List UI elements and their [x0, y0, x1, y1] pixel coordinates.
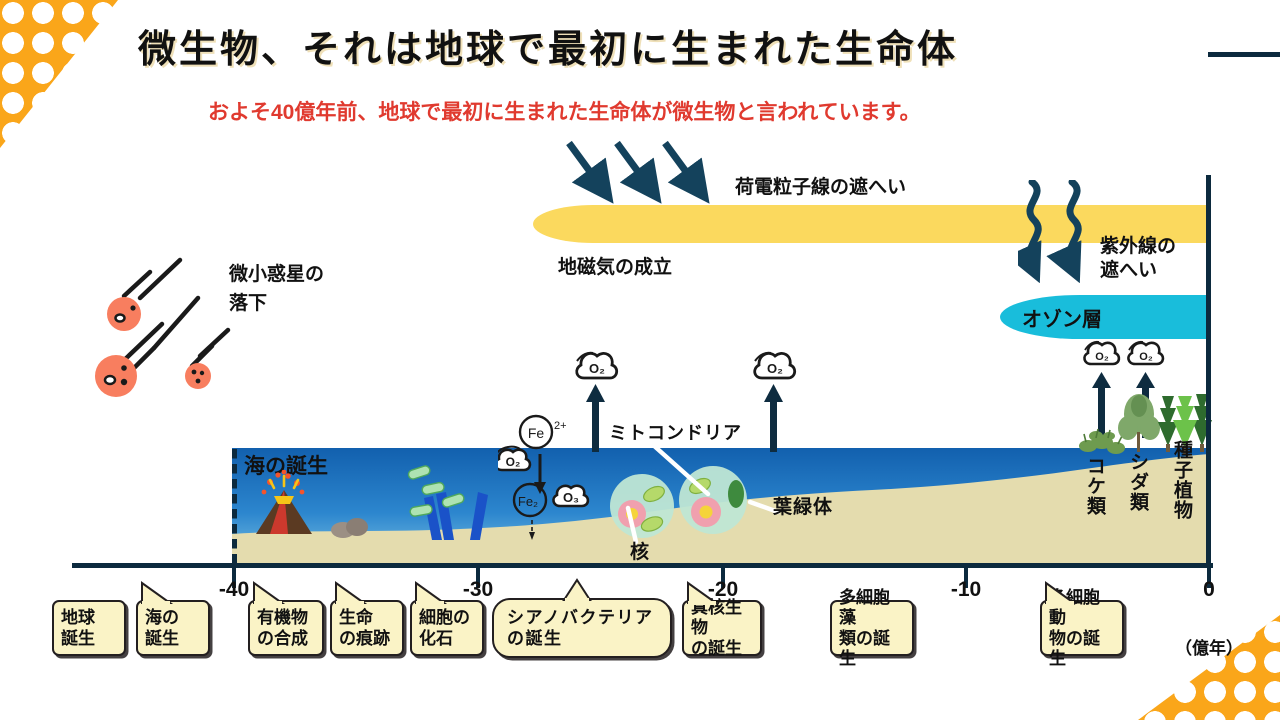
plant-label-fern: シダ類 — [1128, 452, 1147, 512]
callout-label-earth-birth: 地球 誕生 — [52, 600, 126, 656]
svg-text:O₂: O₂ — [1139, 351, 1153, 363]
callout-earth-birth[interactable]: 地球 誕生 — [52, 600, 126, 656]
callout-label-cell-fossil: 細胞の 化石 — [410, 600, 484, 656]
axis-tick-label--10: -10 — [951, 578, 981, 602]
callout-tail-icon — [414, 581, 448, 605]
callout-tail-icon — [1044, 581, 1078, 605]
callout-eukaryote[interactable]: 真核生物 の誕生 — [682, 600, 762, 656]
charged-particle-label: 荷電粒子線の遮へい — [735, 172, 906, 199]
callout-tail-icon — [560, 578, 594, 602]
axis-tick-label--40: -40 — [219, 578, 249, 602]
timeline-axis-vertical — [1206, 175, 1211, 568]
oxygen-release-right-icon: O₂ — [744, 350, 798, 452]
corner-dots-bottom-right — [1138, 615, 1280, 720]
svg-text:O₂: O₂ — [506, 455, 521, 469]
page-title: 微生物、それは地球で最初に生まれた生命体 — [138, 18, 1138, 73]
callout-tail-icon — [686, 581, 720, 605]
callout-label-organic-synth: 有機物 の合成 — [248, 600, 324, 656]
timeline-start-dashed-line — [232, 449, 237, 567]
svg-text:O₂: O₂ — [1095, 351, 1109, 363]
callout-label-cyanobacteria: シアノバクテリア の誕生 — [492, 598, 672, 658]
oxygen-release-left-icon: O₂ — [566, 350, 620, 452]
axis-tick-label-0: 0 — [1203, 578, 1215, 602]
page-subtitle: およそ40億年前、地球で最初に生まれた生命体が微生物と言われています。 — [208, 96, 1108, 126]
charged-particle-arrows-icon — [560, 138, 760, 208]
svg-text:O₃: O₃ — [563, 490, 579, 505]
callout-life-trace[interactable]: 生命 の痕跡 — [330, 600, 404, 656]
nucleus-label: 核 — [630, 537, 649, 564]
callout-tail-icon — [140, 581, 174, 605]
callout-sea-birth[interactable]: 海の 誕生 — [136, 600, 210, 656]
magnetosphere-label: 地磁気の成立 — [558, 252, 672, 279]
callout-multicell-animal[interactable]: 多細胞動 物の誕生 — [1040, 600, 1124, 656]
volcano-icon — [244, 470, 324, 538]
axis-tick-label--30: -30 — [463, 578, 493, 602]
meteorite-label: 微小惑星の 落下 — [229, 260, 324, 319]
corner-dots-top-left — [0, 0, 118, 148]
callout-label-sea-birth: 海の 誕生 — [136, 600, 210, 656]
title-rule — [1208, 52, 1280, 57]
axis-unit-label: （億年） — [1175, 634, 1243, 659]
uv-shield-label: 紫外線の 遮へい — [1100, 235, 1176, 283]
ozone-layer-label: オゾン層 — [1022, 303, 1102, 332]
plant-label-moss: コケ類 — [1085, 456, 1104, 516]
slide-canvas: 微生物、それは地球で最初に生まれた生命体 およそ40億年前、地球で最初に生まれた… — [0, 0, 1280, 720]
svg-text:O₂: O₂ — [767, 361, 783, 376]
callout-label-eukaryote: 真核生物 の誕生 — [682, 600, 762, 656]
plant-label-seed-plant: 種子植物 — [1172, 440, 1191, 520]
timeline-axis-horizontal — [72, 563, 1213, 568]
callout-multicell-algae[interactable]: 多細胞藻 類の誕生 — [830, 600, 914, 656]
svg-text:Fe: Fe — [528, 425, 545, 441]
chloroplast-label: 葉緑体 — [773, 492, 833, 519]
callout-label-multicell-animal: 多細胞動 物の誕生 — [1040, 600, 1124, 656]
svg-text:Fe₂: Fe₂ — [518, 494, 538, 509]
seafloor-rocks-icon — [330, 516, 370, 538]
callout-tail-icon — [334, 581, 368, 605]
mitochondria-label: ミトコンドリア — [609, 419, 742, 445]
meteorite-shower-icon — [88, 252, 248, 400]
svg-text:O₂: O₂ — [589, 361, 605, 376]
uv-wavy-arrows-icon — [1018, 180, 1108, 295]
callout-cyanobacteria[interactable]: シアノバクテリア の誕生 — [492, 598, 672, 658]
callout-tail-icon — [252, 581, 286, 605]
callout-label-life-trace: 生命 の痕跡 — [330, 600, 404, 656]
svg-text:2+: 2+ — [554, 420, 567, 432]
callout-organic-synth[interactable]: 有機物 の合成 — [248, 600, 324, 656]
callout-cell-fossil[interactable]: 細胞の 化石 — [410, 600, 484, 656]
callout-label-multicell-algae: 多細胞藻 類の誕生 — [830, 600, 914, 656]
